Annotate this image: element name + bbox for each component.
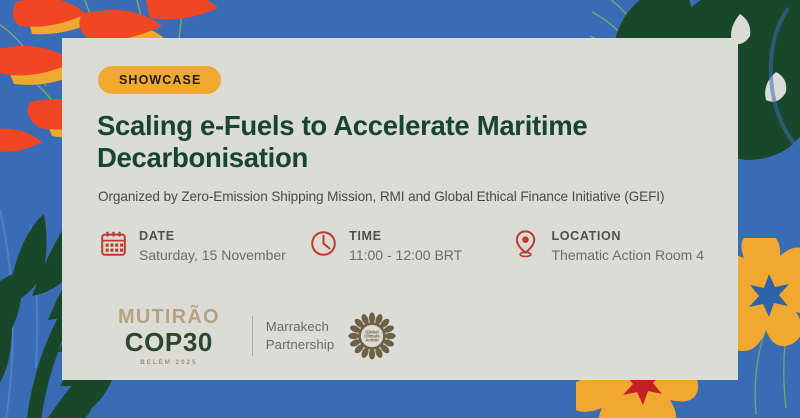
map-pin-icon	[510, 228, 540, 260]
logo-divider	[252, 316, 253, 356]
meta-label-location: LOCATION	[551, 229, 704, 245]
clock-icon	[308, 228, 338, 260]
meta-item-date: DATE Saturday, 15 November	[98, 228, 308, 266]
status-badge: SHOWCASE	[98, 66, 221, 94]
event-banner: SHOWCASE Scaling e-Fuels to Accelerate M…	[0, 0, 800, 418]
cop30-logo-belem: BELÉM 2025	[140, 360, 197, 366]
cop30-logo: MUTIRÃO COP30 BELÉM 2025	[118, 307, 220, 366]
meta-item-time: TIME 11:00 - 12:00 BRT	[308, 228, 510, 266]
cop30-logo-cop30: COP30	[125, 329, 213, 355]
marrakech-partnership-line1: Marrakech	[266, 318, 335, 337]
meta-value-date: Saturday, 15 November	[139, 245, 286, 265]
calendar-icon	[98, 228, 128, 260]
cop30-logo-mutirao: MUTIRÃO	[118, 307, 220, 327]
global-climate-action-logo: Global Climate Action	[348, 312, 396, 360]
event-meta-row: DATE Saturday, 15 November TIME 11:00 - …	[98, 228, 704, 266]
marrakech-partnership-logo: Marrakech Partnership	[266, 318, 335, 355]
meta-label-time: TIME	[349, 229, 462, 245]
meta-label-date: DATE	[139, 229, 286, 245]
marrakech-partnership-line2: Partnership	[266, 336, 335, 355]
meta-item-location: LOCATION Thematic Action Room 4	[510, 228, 704, 266]
page-title: Scaling e-Fuels to Accelerate Maritime D…	[97, 110, 697, 175]
meta-value-time: 11:00 - 12:00 BRT	[349, 245, 462, 265]
organizers-text: Organized by Zero-Emission Shipping Miss…	[98, 188, 704, 206]
logo-strip: MUTIRÃO COP30 BELÉM 2025 Marrakech Partn…	[118, 307, 396, 366]
meta-value-location: Thematic Action Room 4	[551, 245, 704, 265]
gca-line3: Action	[366, 338, 380, 343]
